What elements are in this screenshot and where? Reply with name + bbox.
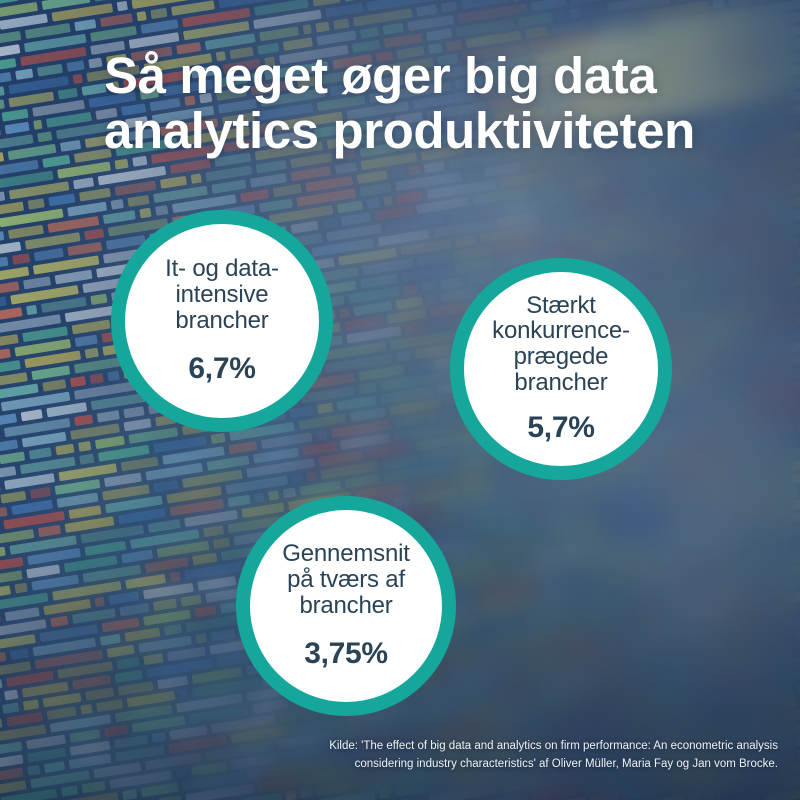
stat-label-line-4: brancher (514, 369, 607, 396)
page-title-line-2: analytics produktiviteten (104, 103, 728, 158)
source-citation: Kilde: 'The effect of big data and analy… (258, 738, 778, 774)
stat-bubble-label: Gennemsnit på tværs af brancher (268, 541, 423, 618)
stat-label-line-3: brancher (175, 307, 268, 334)
stat-label-line-2: intensive (176, 281, 269, 308)
stat-label-line-3: brancher (299, 592, 392, 619)
stat-label-line-3: prægede (514, 343, 609, 370)
stat-label-line-1: Stærkt (526, 292, 595, 319)
stat-label-line-2: på tværs af (287, 566, 405, 593)
stat-bubble-value: 5,7% (527, 411, 594, 445)
stat-bubble-label: Stærkt konkurrence- prægede brancher (478, 293, 644, 396)
stat-label-line-2: konkurrence- (492, 317, 630, 344)
stat-bubble-value: 6,7% (188, 352, 255, 386)
infographic-canvas: Så meget øger big data analytics produkt… (0, 0, 800, 800)
stat-bubble-average-across-industries: Gennemsnit på tværs af brancher 3,75% (236, 496, 456, 716)
stat-bubble-label: It- og data- intensive brancher (151, 256, 293, 333)
page-title: Så meget øger big data analytics produkt… (104, 48, 728, 158)
source-line-1: Kilde: 'The effect of big data and analy… (258, 738, 778, 756)
stat-bubble-value: 3,75% (304, 637, 388, 671)
stat-bubble-competitive-industries: Stærkt konkurrence- prægede brancher 5,7… (450, 258, 672, 480)
page-title-line-1: Så meget øger big data (104, 48, 728, 103)
source-line-2: considering industry characteristics' af… (258, 756, 778, 774)
stat-bubble-it-data-intensive: It- og data- intensive brancher 6,7% (111, 210, 333, 432)
stat-label-line-1: It- og data- (165, 255, 279, 282)
stat-label-line-1: Gennemsnit (282, 540, 409, 567)
